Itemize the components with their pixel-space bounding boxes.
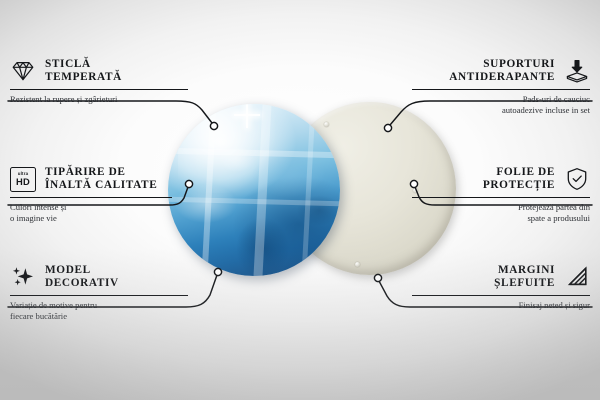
ultra-hd-badge-icon: ultra HD <box>10 167 36 192</box>
callout-title: MODEL DECORATIV <box>45 264 119 291</box>
callout-description: Protejează partea din spate a produsului <box>412 202 590 225</box>
press-pad-icon <box>564 58 590 84</box>
callout-header: FOLIE DE PROTECȚIE <box>412 166 590 193</box>
feature-callout-high-quality-print: ultra HD TIPĂRIRE DE ÎNALTĂ CALITATE Cul… <box>10 166 172 224</box>
callout-title: SUPORTURI ANTIDERAPANTE <box>449 58 555 85</box>
callout-header: MODEL DECORATIV <box>10 264 188 291</box>
callout-underline <box>412 295 590 296</box>
callout-description: Culori intense și o imagine vie <box>10 202 172 225</box>
feature-callout-decorative-model: MODEL DECORATIV Variație de motive pentr… <box>10 264 188 322</box>
feature-callout-anti-slip-supports: SUPORTURI ANTIDERAPANTE Pads-uri de cauc… <box>412 58 590 116</box>
callout-title: STICLĂ TEMPERATĂ <box>45 58 122 85</box>
callout-description: Finisaj neted și sigur <box>412 300 590 311</box>
callout-underline <box>10 295 188 296</box>
diamond-icon <box>10 58 36 84</box>
window-reflection <box>168 104 340 276</box>
callout-underline <box>412 197 590 198</box>
feature-callout-polished-edges: MARGINI ȘLEFUITE Finisaj neted și sigur <box>412 264 590 311</box>
callout-header: MARGINI ȘLEFUITE <box>412 264 590 291</box>
callout-header: STICLĂ TEMPERATĂ <box>10 58 188 85</box>
feature-callout-protective-film: FOLIE DE PROTECȚIE Protejează partea din… <box>412 166 590 224</box>
feature-callout-tempered-glass: STICLĂ TEMPERATĂ Rezistent la rupere și … <box>10 58 188 105</box>
callout-header: ultra HD TIPĂRIRE DE ÎNALTĂ CALITATE <box>10 166 172 193</box>
callout-underline <box>412 89 590 90</box>
shield-check-icon <box>564 166 590 192</box>
callout-underline <box>10 197 172 198</box>
badge-large-text: HD <box>16 177 30 187</box>
callout-underline <box>10 89 188 90</box>
anti-slip-pad <box>355 262 360 267</box>
diagonal-lines-icon <box>564 264 590 290</box>
callout-header: SUPORTURI ANTIDERAPANTE <box>412 58 590 85</box>
callout-description: Pads-uri de cauciuc autoadezive incluse … <box>412 94 590 117</box>
callout-title: FOLIE DE PROTECȚIE <box>483 166 555 193</box>
callout-title: MARGINI ȘLEFUITE <box>494 264 555 291</box>
blue-board-front <box>168 104 340 276</box>
callout-description: Rezistent la rupere și zgârieturi <box>10 94 188 105</box>
infographic-canvas: STICLĂ TEMPERATĂ Rezistent la rupere și … <box>0 0 600 400</box>
sparkles-icon <box>10 264 36 290</box>
callout-title: TIPĂRIRE DE ÎNALTĂ CALITATE <box>45 166 157 193</box>
callout-description: Variație de motive pentru fiecare bucătă… <box>10 300 188 323</box>
